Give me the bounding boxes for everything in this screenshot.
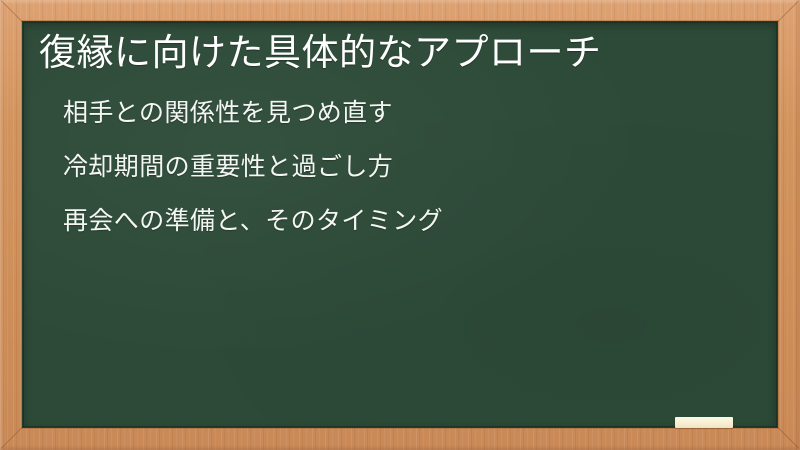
list-item: 相手との関係性を見つめ直す: [63, 97, 751, 129]
chalk-stick-icon: [675, 417, 733, 428]
slide-content: 復縁に向けた具体的なアプローチ 相手との関係性を見つめ直す 冷却期間の重要性と過…: [23, 22, 777, 237]
slide-bullet-list: 相手との関係性を見つめ直す 冷却期間の重要性と過ごし方 再会への準備と、そのタイ…: [35, 97, 751, 237]
chalkboard-surface: 復縁に向けた具体的なアプローチ 相手との関係性を見つめ直す 冷却期間の重要性と過…: [22, 21, 778, 428]
slide-title: 復縁に向けた具体的なアプローチ: [35, 30, 751, 75]
list-item: 冷却期間の重要性と過ごし方: [63, 151, 751, 183]
list-item: 再会への準備と、そのタイミング: [63, 205, 751, 237]
chalkboard-slide: 復縁に向けた具体的なアプローチ 相手との関係性を見つめ直す 冷却期間の重要性と過…: [0, 0, 800, 450]
